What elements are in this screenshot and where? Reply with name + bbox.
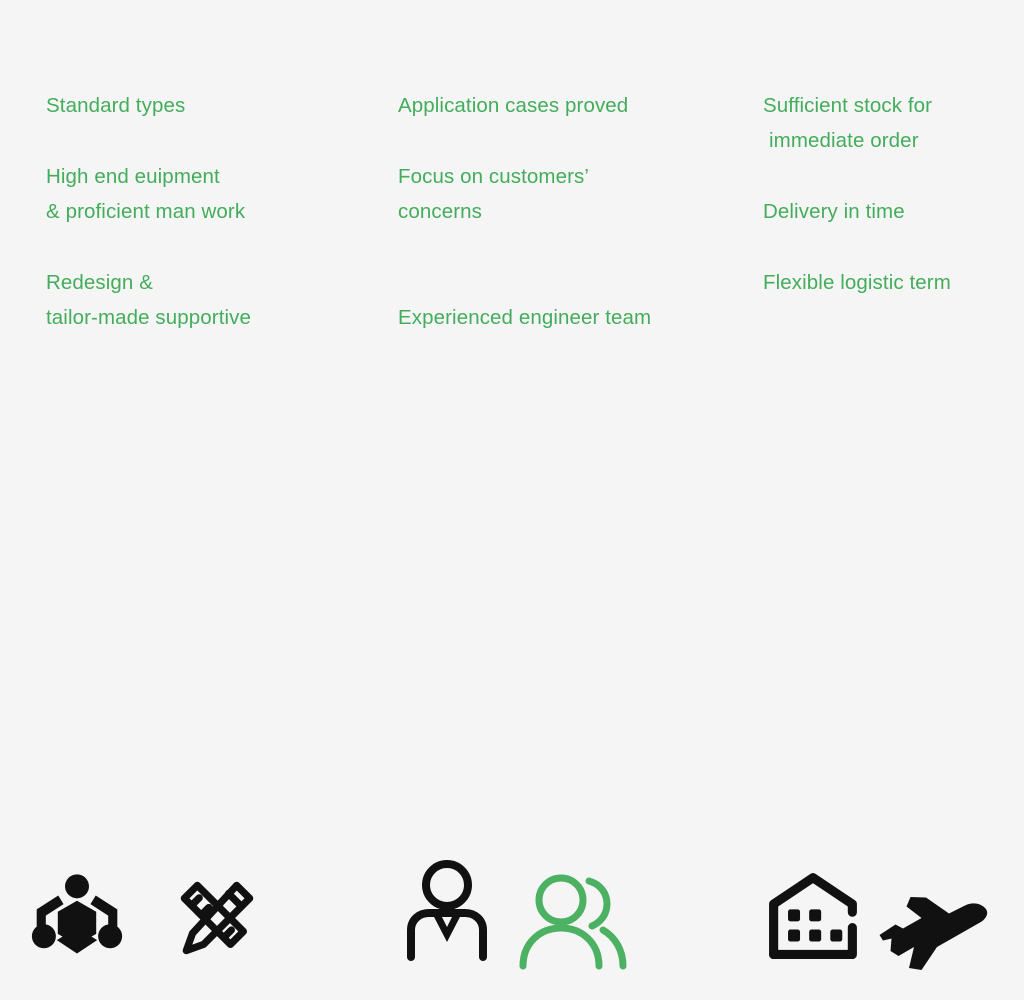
pencil-ruler-icon (152, 850, 282, 985)
feature-focus-on-customers: Focus on customers’ concerns (398, 159, 728, 229)
feature-line: Application cases proved (398, 88, 728, 123)
feature-application-cases: Application cases proved (398, 88, 728, 123)
features-text-area: Standard types High end euipment & profi… (0, 0, 1024, 400)
warehouse-icon (748, 850, 878, 985)
feature-line: Flexible logistic term (763, 265, 1024, 300)
feature-line: Standard types (46, 88, 376, 123)
feature-line: High end euipment (46, 159, 376, 194)
infographic-board: Standard types High end euipment & profi… (0, 0, 1024, 605)
feature-line: & proficient man work (46, 194, 376, 229)
feature-column-experience: Application cases proved Focus on custom… (398, 88, 728, 335)
feature-line: Experienced engineer team (398, 300, 728, 335)
feature-line: tailor-made supportive (46, 300, 376, 335)
feature-line: Sufficient stock for (763, 88, 1024, 123)
feature-delivery-in-time: Delivery in time (763, 194, 1024, 229)
engineer-person-icon (382, 843, 512, 978)
feature-redesign-tailor-made: Redesign & tailor-made supportive (46, 265, 376, 335)
feature-column-logistics: Sufficient stock for immediate order Del… (763, 88, 1024, 300)
feature-flexible-logistic-term: Flexible logistic term (763, 265, 1024, 300)
feature-column-capability: Standard types High end euipment & profi… (46, 88, 376, 335)
feature-line: concerns (398, 194, 728, 229)
network-hub-icon (12, 850, 142, 985)
airplane-icon (872, 865, 1002, 1000)
feature-sufficient-stock: Sufficient stock for immediate order (763, 88, 1024, 158)
feature-experienced-engineer-team: Experienced engineer team (398, 300, 728, 335)
customers-people-icon (508, 855, 638, 990)
feature-line: Redesign & (46, 265, 376, 300)
feature-high-end-equipment: High end euipment & proficient man work (46, 159, 376, 229)
feature-line: Focus on customers’ (398, 159, 728, 194)
feature-standard-types: Standard types (46, 88, 376, 123)
icon-row (0, 425, 1024, 570)
feature-line: Delivery in time (763, 194, 1024, 229)
feature-line: immediate order (763, 123, 1024, 158)
